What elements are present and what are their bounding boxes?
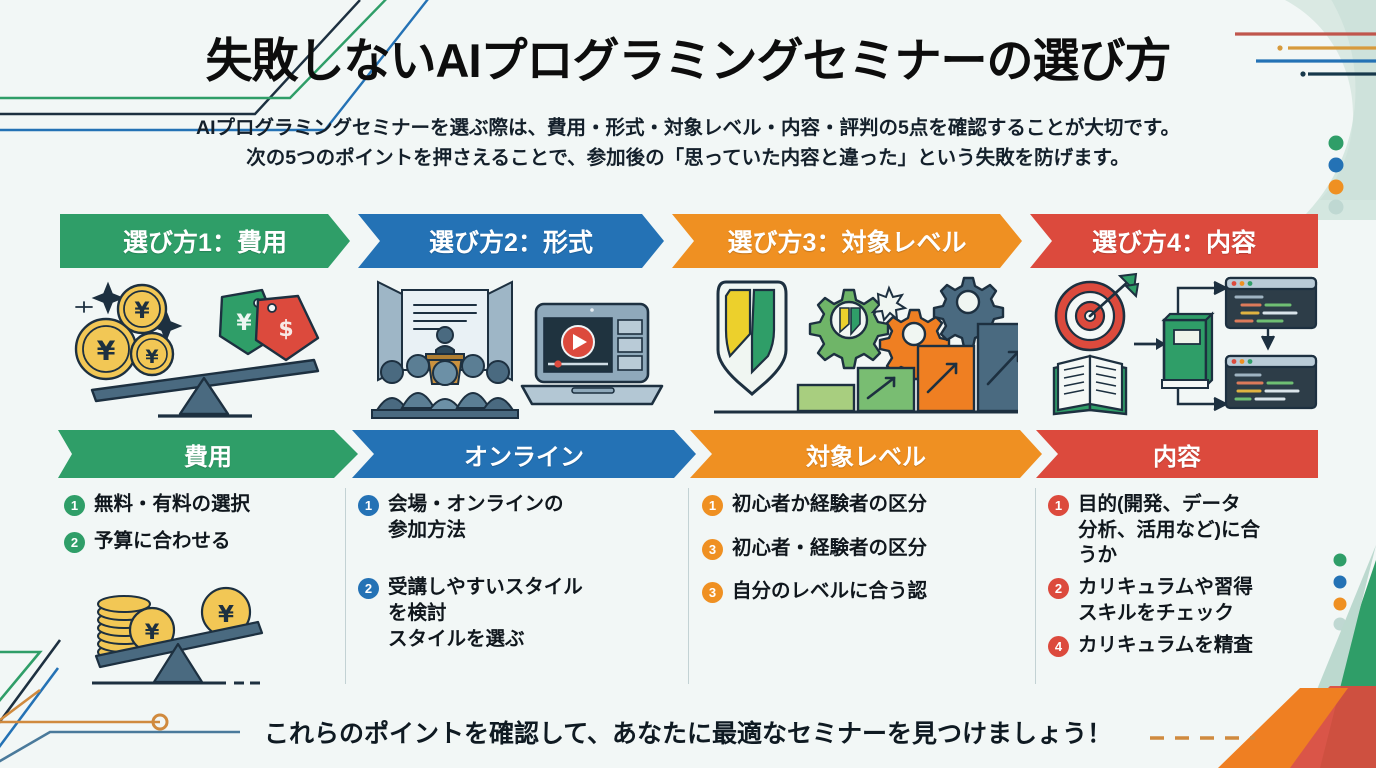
right-dot-column-lower	[1334, 554, 1347, 631]
right-dot-column-upper	[1329, 136, 1344, 215]
list-item: 2 カリキュラムや習得 スキルをチェック	[1048, 575, 1316, 626]
bullet-number: 1	[702, 495, 723, 516]
bullet-number: 2	[64, 532, 85, 553]
step-chevron-1-label: 選び方1：費用	[123, 223, 287, 259]
code-window-icon	[1226, 356, 1316, 408]
list-item: 2 受講しやすいスタイル を検討 スタイルを選ぶ	[358, 575, 666, 652]
subtitle-line-2: 次の5つのポイントを押さえることで、参加後の「思っていた内容と違った」という失敗…	[68, 143, 1308, 173]
svg-text:¥: ¥	[97, 336, 116, 367]
category-chevron-4[interactable]: 内容	[1036, 430, 1318, 478]
category-chevron-1[interactable]: 費用	[58, 430, 358, 478]
seminar-room-icon	[372, 282, 518, 418]
step-chevron-1[interactable]: 選び方1：費用	[60, 214, 350, 268]
subtitle-line-1: AIプログラミングセミナーを選ぶ際は、費用・形式・対象レベル・内容・評判の5点を…	[68, 113, 1308, 143]
step-chevron-4[interactable]: 選び方4：内容	[1030, 214, 1318, 268]
bullet-text: 無料・有料の選択	[94, 492, 250, 518]
bullet-text: 目的(開発、データ 分析、活用など)に合 うか	[1078, 492, 1260, 569]
bullet-list-1: 1 無料・有料の選択 2 予算に合わせる	[64, 492, 340, 554]
price-tag-red-icon: $	[256, 296, 318, 360]
list-item: 1 初心者か経験者の区分	[702, 492, 1020, 518]
footer-callout: これらのポイントを確認して、あなたに最適なセミナーを見つけましょう！	[0, 714, 1376, 750]
audience-icon	[376, 355, 514, 414]
column-divider	[345, 488, 346, 684]
step-chevron-2-label: 選び方2：形式	[429, 223, 593, 259]
illustration-content	[1046, 272, 1318, 424]
list-item: 1 会場・オンラインの 参加方法	[358, 492, 666, 543]
bullet-number: 1	[358, 495, 379, 516]
svg-text:$: $	[278, 317, 293, 342]
bullet-text: 予算に合わせる	[94, 529, 231, 555]
list-item: 2 予算に合わせる	[64, 529, 340, 555]
step-chevron-2[interactable]: 選び方2：形式	[358, 214, 664, 268]
yen-coin-icon: ¥	[76, 319, 136, 379]
step-chevron-3[interactable]: 選び方3：対象レベル	[672, 214, 1022, 268]
bullet-text: カリキュラムや習得 スキルをチェック	[1078, 575, 1253, 626]
beginner-wakaba-mark-icon	[718, 282, 786, 394]
svg-text:¥: ¥	[145, 346, 158, 368]
illustration-budget-seesaw: ¥ ¥	[86, 586, 296, 690]
category-chevron-2-label: オンライン	[464, 437, 584, 472]
bullet-number: 1	[1048, 495, 1069, 516]
open-book-icon	[1054, 356, 1126, 414]
bullets-column-1: 1 無料・有料の選択 2 予算に合わせる	[64, 492, 340, 565]
page-title: 失敗しないAIプログラミングセミナーの選び方	[0, 22, 1376, 91]
category-chevron-1-label: 費用	[184, 437, 232, 472]
yen-coin-icon: ¥	[131, 333, 173, 375]
target-arrow-icon	[1056, 274, 1138, 350]
step-chevron-row: 選び方1：費用 選び方2：形式 選び方3：対象レベル 選び方4：内容	[0, 214, 1376, 268]
bullet-number: 1	[64, 495, 85, 516]
bullet-text: 受講しやすいスタイル を検討 スタイルを選ぶ	[388, 575, 583, 652]
bullets-column-4: 1 目的(開発、データ 分析、活用など)に合 うか 2 カリキュラムや習得 スキ…	[1048, 492, 1316, 669]
list-item: 4 カリキュラムを精査	[1048, 633, 1316, 659]
bullet-list-3: 1 初心者か経験者の区分 3 初心者・経験者の区分 3 自分のレベルに合う認	[702, 492, 1020, 605]
step-chevron-3-label: 選び方3：対象レベル	[728, 223, 967, 259]
bullet-number: 2	[358, 578, 379, 599]
bullets-column-3: 1 初心者か経験者の区分 3 初心者・経験者の区分 3 自分のレベルに合う認	[702, 492, 1020, 616]
bullet-text: 初心者・経験者の区分	[732, 536, 927, 562]
illustration-level	[706, 272, 1018, 424]
illustration-format	[370, 272, 670, 424]
bullet-number: 3	[702, 582, 723, 603]
code-window-icon	[1226, 278, 1316, 328]
category-chevron-4-label: 内容	[1153, 437, 1201, 472]
category-chevron-3[interactable]: 対象レベル	[690, 430, 1042, 478]
column-divider	[688, 488, 689, 684]
step-chevron-4-label: 選び方4：内容	[1092, 223, 1256, 259]
svg-text:¥: ¥	[236, 311, 252, 336]
bullet-text: 初心者か経験者の区分	[732, 492, 927, 518]
bullet-number: 2	[1048, 578, 1069, 599]
list-item: 3 初心者・経験者の区分	[702, 536, 1020, 562]
category-chevron-2[interactable]: オンライン	[352, 430, 696, 478]
list-item: 1 目的(開発、データ 分析、活用など)に合 うか	[1048, 492, 1316, 569]
bullet-text: カリキュラムを精査	[1078, 633, 1253, 659]
laptop-video-icon	[522, 304, 662, 404]
bullet-text: 会場・オンラインの 参加方法	[388, 492, 564, 543]
svg-text:¥: ¥	[145, 620, 160, 644]
bullet-list-2: 1 会場・オンラインの 参加方法 2 受講しやすいスタイル を検討 スタイルを選…	[358, 492, 666, 653]
illustration-costs: ¥ ¥ ¥ ¥ $	[62, 272, 354, 424]
bullet-text: 自分のレベルに合う認	[732, 579, 927, 605]
bullets-column-2: 1 会場・オンラインの 参加方法 2 受講しやすいスタイル を検討 スタイルを選…	[358, 492, 666, 664]
svg-text:¥: ¥	[134, 299, 150, 324]
column-divider	[1035, 488, 1036, 684]
bullet-number: 3	[702, 539, 723, 560]
list-item: 1 無料・有料の選択	[64, 492, 340, 518]
page-subtitle: AIプログラミングセミナーを選ぶ際は、費用・形式・対象レベル・内容・評判の5点を…	[68, 113, 1308, 173]
green-book-icon	[1162, 314, 1212, 388]
svg-text:¥: ¥	[218, 602, 234, 628]
category-chevron-3-label: 対象レベル	[806, 437, 926, 472]
bullet-list-4: 1 目的(開発、データ 分析、活用など)に合 うか 2 カリキュラムや習得 スキ…	[1048, 492, 1316, 658]
bullet-number: 4	[1048, 636, 1069, 657]
list-item: 3 自分のレベルに合う認	[702, 579, 1020, 605]
category-chevron-row: 費用 オンライン 対象レベル 内容	[0, 430, 1376, 478]
